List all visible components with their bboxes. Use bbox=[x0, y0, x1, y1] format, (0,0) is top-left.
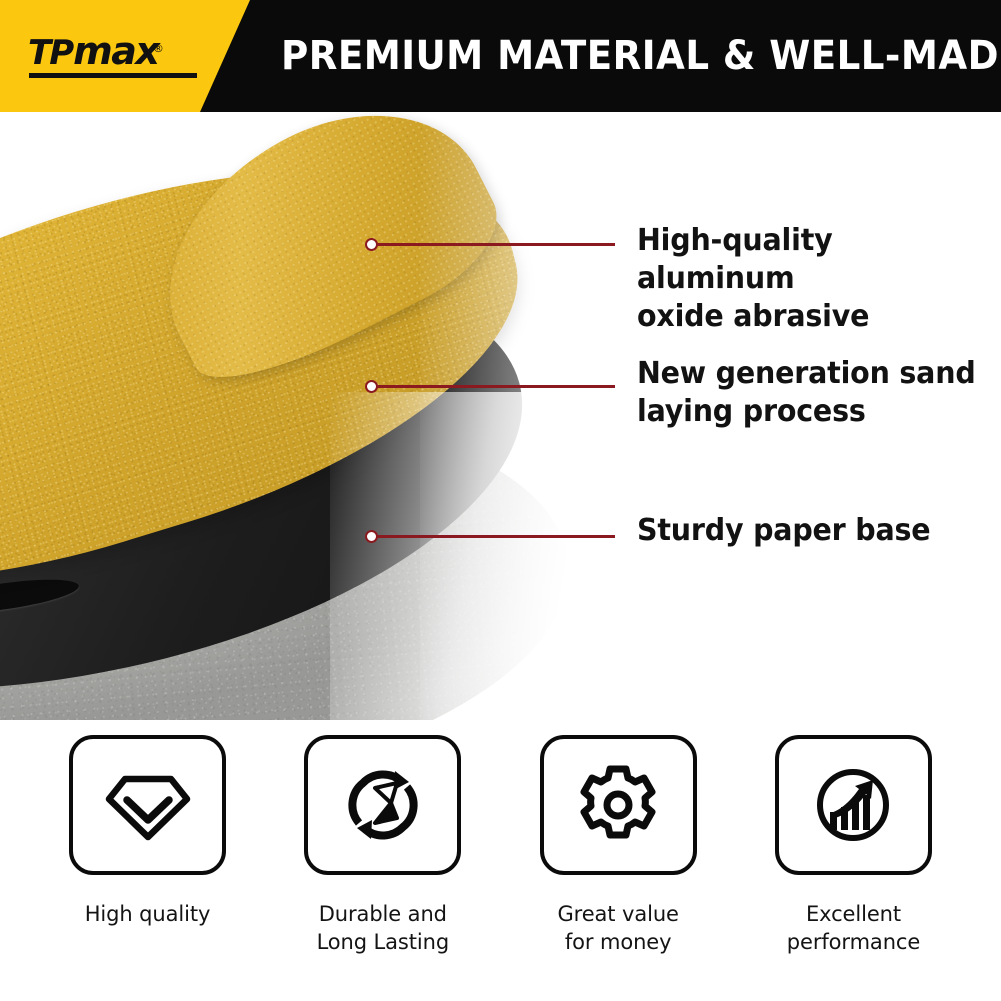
brand-logo-max: max bbox=[73, 29, 158, 73]
disc-slot bbox=[0, 573, 81, 620]
product-infographic: TPmax® PREMIUM MATERIAL & WELL-MADE bbox=[0, 0, 1001, 1001]
feature-label: Great value for money bbox=[557, 900, 678, 956]
feature-value: Great value for money bbox=[511, 735, 726, 956]
page-title: PREMIUM MATERIAL & WELL-MADE bbox=[281, 33, 932, 79]
callout-marker-dot bbox=[365, 530, 378, 543]
feature-label: Excellent performance bbox=[787, 900, 920, 956]
diamond-icon bbox=[103, 765, 193, 845]
callout-leader-line bbox=[371, 243, 615, 246]
callout-leader-line bbox=[371, 535, 615, 538]
brand-logo: TPmax® bbox=[28, 31, 213, 85]
brand-logo-tp: TP bbox=[28, 33, 72, 73]
feature-icon-box bbox=[304, 735, 461, 875]
feature-performance: Excellent performance bbox=[746, 735, 961, 956]
callout-sand-laying-label: New generation sand laying process bbox=[637, 355, 979, 431]
brand-logo-text: TPmax® bbox=[28, 31, 158, 73]
feature-durable: Durable and Long Lasting bbox=[275, 735, 490, 956]
feature-label: High quality bbox=[85, 900, 211, 928]
callout-marker-dot bbox=[365, 238, 378, 251]
feature-icon-box bbox=[775, 735, 932, 875]
gear-icon bbox=[574, 761, 662, 849]
callout-leader-line bbox=[371, 385, 615, 388]
feature-high-quality: High quality bbox=[40, 735, 255, 928]
feature-icon-box bbox=[69, 735, 226, 875]
feature-icon-box bbox=[540, 735, 697, 875]
callout-marker-dot bbox=[365, 380, 378, 393]
registered-trademark-icon: ® bbox=[153, 29, 163, 69]
hourglass-refresh-icon bbox=[339, 761, 427, 849]
feature-badges: High quality Durable and Long Lasting bbox=[0, 735, 1001, 1001]
callout-abrasive-label: High-quality aluminum oxide abrasive bbox=[637, 222, 979, 336]
header-banner: TPmax® PREMIUM MATERIAL & WELL-MADE bbox=[0, 0, 1001, 112]
brand-logo-underline bbox=[29, 73, 197, 78]
callout-paper-base-label: Sturdy paper base bbox=[637, 512, 979, 550]
growth-chart-icon bbox=[809, 761, 897, 849]
feature-label: Durable and Long Lasting bbox=[317, 900, 450, 956]
